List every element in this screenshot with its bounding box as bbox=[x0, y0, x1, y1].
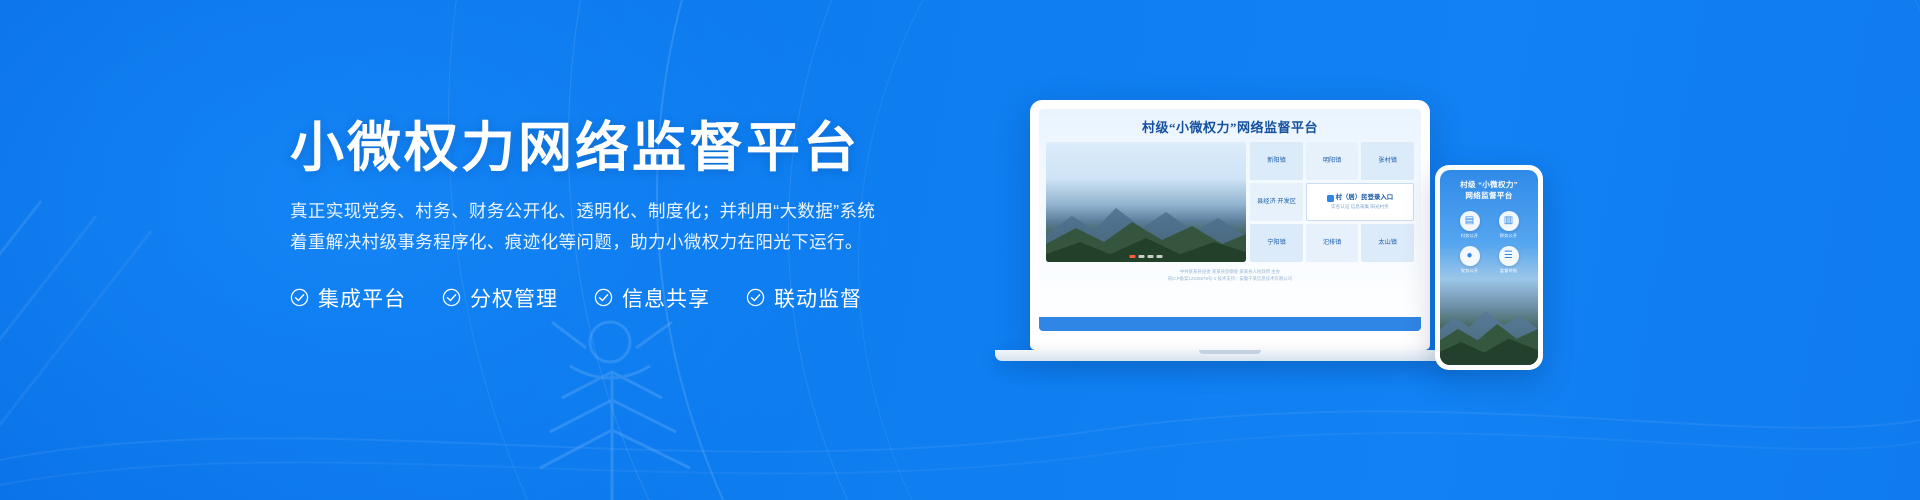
feature-label: 集成平台 bbox=[318, 283, 406, 313]
list-icon: ☰ bbox=[1499, 246, 1519, 266]
township-tile[interactable]: 张村镇 bbox=[1361, 142, 1414, 180]
carousel-dots[interactable] bbox=[1130, 255, 1163, 258]
laptop-mockup: 村级“小微权力”网络监督平台 bbox=[1030, 100, 1465, 361]
mountain-silhouette-icon bbox=[1046, 182, 1246, 262]
user-icon: ● bbox=[1460, 246, 1480, 266]
township-tile[interactable]: 汜排镇 bbox=[1306, 224, 1359, 262]
feature-item-integrated-platform[interactable]: 集成平台 bbox=[290, 283, 406, 313]
page-title: 小微权力网络监督平台 bbox=[290, 118, 930, 178]
carousel-dot[interactable] bbox=[1157, 255, 1163, 258]
township-tile[interactable]: 宁阳镇 bbox=[1250, 224, 1303, 262]
feature-item-power-separation[interactable]: 分权管理 bbox=[442, 283, 558, 313]
hero-mountain-image bbox=[1046, 142, 1246, 262]
mountain-silhouette-icon bbox=[1440, 275, 1538, 365]
hero-description: 真正实现党务、村务、财务公开化、透明化、制度化；并利用“大数据”系统 着重解决村… bbox=[290, 196, 930, 256]
hero-banner: 小微权力网络监督平台 真正实现党务、村务、财务公开化、透明化、制度化；并利用“大… bbox=[0, 0, 1920, 500]
laptop-screen-title: 村级“小微权力”网络监督平台 bbox=[1039, 109, 1421, 142]
phone-mockup: 村级 “小微权力” 网络监督平台 ▤ 村务公开 ▥ 财务公开 ● 党务公开 ☰ bbox=[1435, 165, 1543, 370]
phone-title-line-1: 村级 “小微权力” bbox=[1446, 179, 1532, 190]
phone-app-label: 党务公开 bbox=[1461, 268, 1479, 274]
carousel-dot[interactable] bbox=[1148, 255, 1154, 258]
portal-title: 村（居）民登录入口 bbox=[1336, 194, 1394, 202]
portal-title-row: 村（居）民登录入口 bbox=[1327, 194, 1394, 202]
laptop-screen-body: 新阳镇 明阳镇 张村镇 县经济 开发区 村（居）民登录入口 实名认证 信息采集 … bbox=[1039, 142, 1421, 262]
phone-screen: 村级 “小微权力” 网络监督平台 ▤ 村务公开 ▥ 财务公开 ● 党务公开 ☰ bbox=[1440, 170, 1538, 365]
laptop-screen: 村级“小微权力”网络监督平台 bbox=[1039, 109, 1421, 331]
portal-subtitle: 实名认证 信息采集 阳光村务 bbox=[1331, 204, 1389, 210]
township-tile[interactable]: 明阳镇 bbox=[1306, 142, 1359, 180]
document-icon: ▤ bbox=[1460, 211, 1480, 231]
feature-item-joint-supervision[interactable]: 联动监督 bbox=[746, 283, 862, 313]
hero-description-line-1: 真正实现党务、村务、财务公开化、透明化、制度化；并利用“大数据”系统 bbox=[290, 196, 930, 226]
phone-app-finance[interactable]: ▥ 财务公开 bbox=[1495, 211, 1522, 239]
phone-app-label: 监督举报 bbox=[1500, 268, 1518, 274]
circle-check-icon bbox=[290, 288, 309, 307]
laptop-screen-bottom-bar bbox=[1039, 317, 1421, 331]
resident-login-portal[interactable]: 村（居）民登录入口 实名认证 信息采集 阳光村务 bbox=[1306, 183, 1414, 221]
hero-description-line-2: 着重解决村级事务程序化、痕迹化等问题，助力小微权力在阳光下运行。 bbox=[290, 227, 930, 257]
township-tile[interactable]: 县经济 开发区 bbox=[1250, 183, 1303, 221]
laptop-screen-footer: 中共某某县纪委 某某县监察委 某某县人民政府 主办 皖ICP备案12345678… bbox=[1039, 268, 1421, 283]
township-tile-grid: 新阳镇 明阳镇 张村镇 县经济 开发区 村（居）民登录入口 实名认证 信息采集 … bbox=[1250, 142, 1414, 262]
phone-app-grid: ▤ 村务公开 ▥ 财务公开 ● 党务公开 ☰ 监督举报 bbox=[1440, 208, 1538, 274]
carousel-dot[interactable] bbox=[1139, 255, 1145, 258]
phone-app-label: 村务公开 bbox=[1461, 233, 1479, 239]
township-tile[interactable]: 新阳镇 bbox=[1250, 142, 1303, 180]
phone-app-village-affairs[interactable]: ▤ 村务公开 bbox=[1456, 211, 1483, 239]
circle-check-icon bbox=[594, 288, 613, 307]
footer-line-2: 皖ICP备案12345678号-1 技术支持：安徽干某信息技术有限公司 bbox=[1049, 275, 1411, 282]
chart-icon: ▥ bbox=[1499, 211, 1519, 231]
carousel-dot[interactable] bbox=[1130, 255, 1136, 258]
hero-copy: 小微权力网络监督平台 真正实现党务、村务、财务公开化、透明化、制度化；并利用“大… bbox=[290, 118, 930, 313]
laptop-base bbox=[995, 350, 1465, 361]
feature-item-information-sharing[interactable]: 信息共享 bbox=[594, 283, 710, 313]
township-tile[interactable]: 太山镇 bbox=[1361, 224, 1414, 262]
background-gradient bbox=[0, 0, 1920, 500]
laptop-lid: 村级“小微权力”网络监督平台 bbox=[1030, 100, 1430, 350]
feature-list: 集成平台 分权管理 信息共享 bbox=[290, 283, 930, 313]
shield-icon bbox=[1327, 195, 1334, 202]
feature-label: 联动监督 bbox=[774, 283, 862, 313]
feature-label: 分权管理 bbox=[470, 283, 558, 313]
footer-line-1: 中共某某县纪委 某某县监察委 某某县人民政府 主办 bbox=[1049, 268, 1411, 275]
phone-title: 村级 “小微权力” 网络监督平台 bbox=[1440, 170, 1538, 208]
circle-check-icon bbox=[442, 288, 461, 307]
phone-app-party-affairs[interactable]: ● 党务公开 bbox=[1456, 246, 1483, 274]
phone-app-label: 财务公开 bbox=[1500, 233, 1518, 239]
circle-check-icon bbox=[746, 288, 765, 307]
phone-app-report[interactable]: ☰ 监督举报 bbox=[1495, 246, 1522, 274]
laptop-notch bbox=[1199, 350, 1261, 354]
feature-label: 信息共享 bbox=[622, 283, 710, 313]
phone-title-line-2: 网络监督平台 bbox=[1446, 190, 1532, 201]
